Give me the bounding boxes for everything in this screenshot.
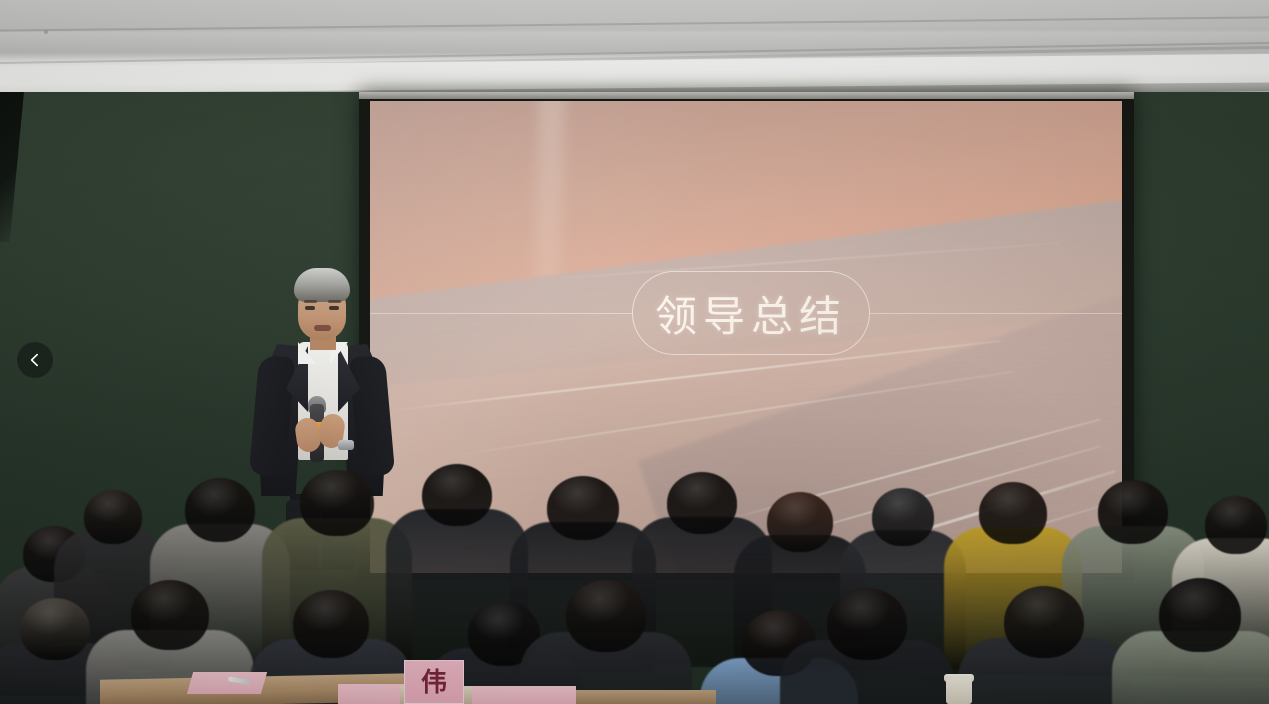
name-placard: 伟 [404, 660, 464, 704]
audience-member-head [1159, 578, 1241, 652]
audience-member-head [872, 488, 934, 546]
audience-member-head [667, 472, 737, 534]
slide-title: 领导总结 [655, 283, 847, 344]
audience-member-head [547, 476, 619, 540]
name-placard-text: 伟 [421, 669, 447, 695]
audience-member [780, 588, 954, 704]
presentation-photo-scene: 领导总结 [0, 0, 1269, 704]
speaker-eye-right [329, 306, 339, 310]
speaker-mouth [314, 325, 331, 331]
paper-sheet [466, 686, 576, 704]
audience-member-head [131, 580, 209, 650]
audience-member [958, 586, 1130, 704]
ceiling-band [0, 16, 1269, 31]
speaker-eyebrow-left [304, 300, 317, 303]
drinking-cup [946, 678, 972, 704]
slide-title-rule-right [870, 313, 1122, 314]
ceiling [0, 0, 1269, 97]
audience-member [1112, 578, 1269, 704]
audience-member-head [827, 588, 907, 660]
audience-member-head [84, 490, 142, 544]
audience [0, 430, 1269, 704]
audience-member-head [767, 492, 833, 552]
chevron-left-icon [27, 352, 43, 368]
speaker-eye-left [305, 306, 315, 310]
audience-member-head [293, 590, 369, 658]
audience-member-head [566, 580, 646, 652]
audience-member-head [1004, 586, 1084, 658]
audience-member-head [422, 464, 492, 526]
front-desk-right [566, 690, 716, 704]
previous-image-button[interactable] [17, 342, 53, 378]
audience-member-head [979, 482, 1047, 544]
audience-member-head [20, 598, 90, 660]
speaker-eyebrow-right [328, 300, 341, 303]
slide-title-rule-left [370, 313, 632, 314]
audience-member-head [300, 470, 374, 536]
ceiling-screw [44, 30, 48, 34]
slide-title-pill: 领导总结 [632, 271, 870, 355]
audience-member-head [185, 478, 255, 542]
paper-sheet [187, 672, 267, 694]
audience-member-head [1205, 496, 1267, 554]
audience-member-head [1098, 480, 1168, 544]
speaker-hair [294, 268, 350, 302]
